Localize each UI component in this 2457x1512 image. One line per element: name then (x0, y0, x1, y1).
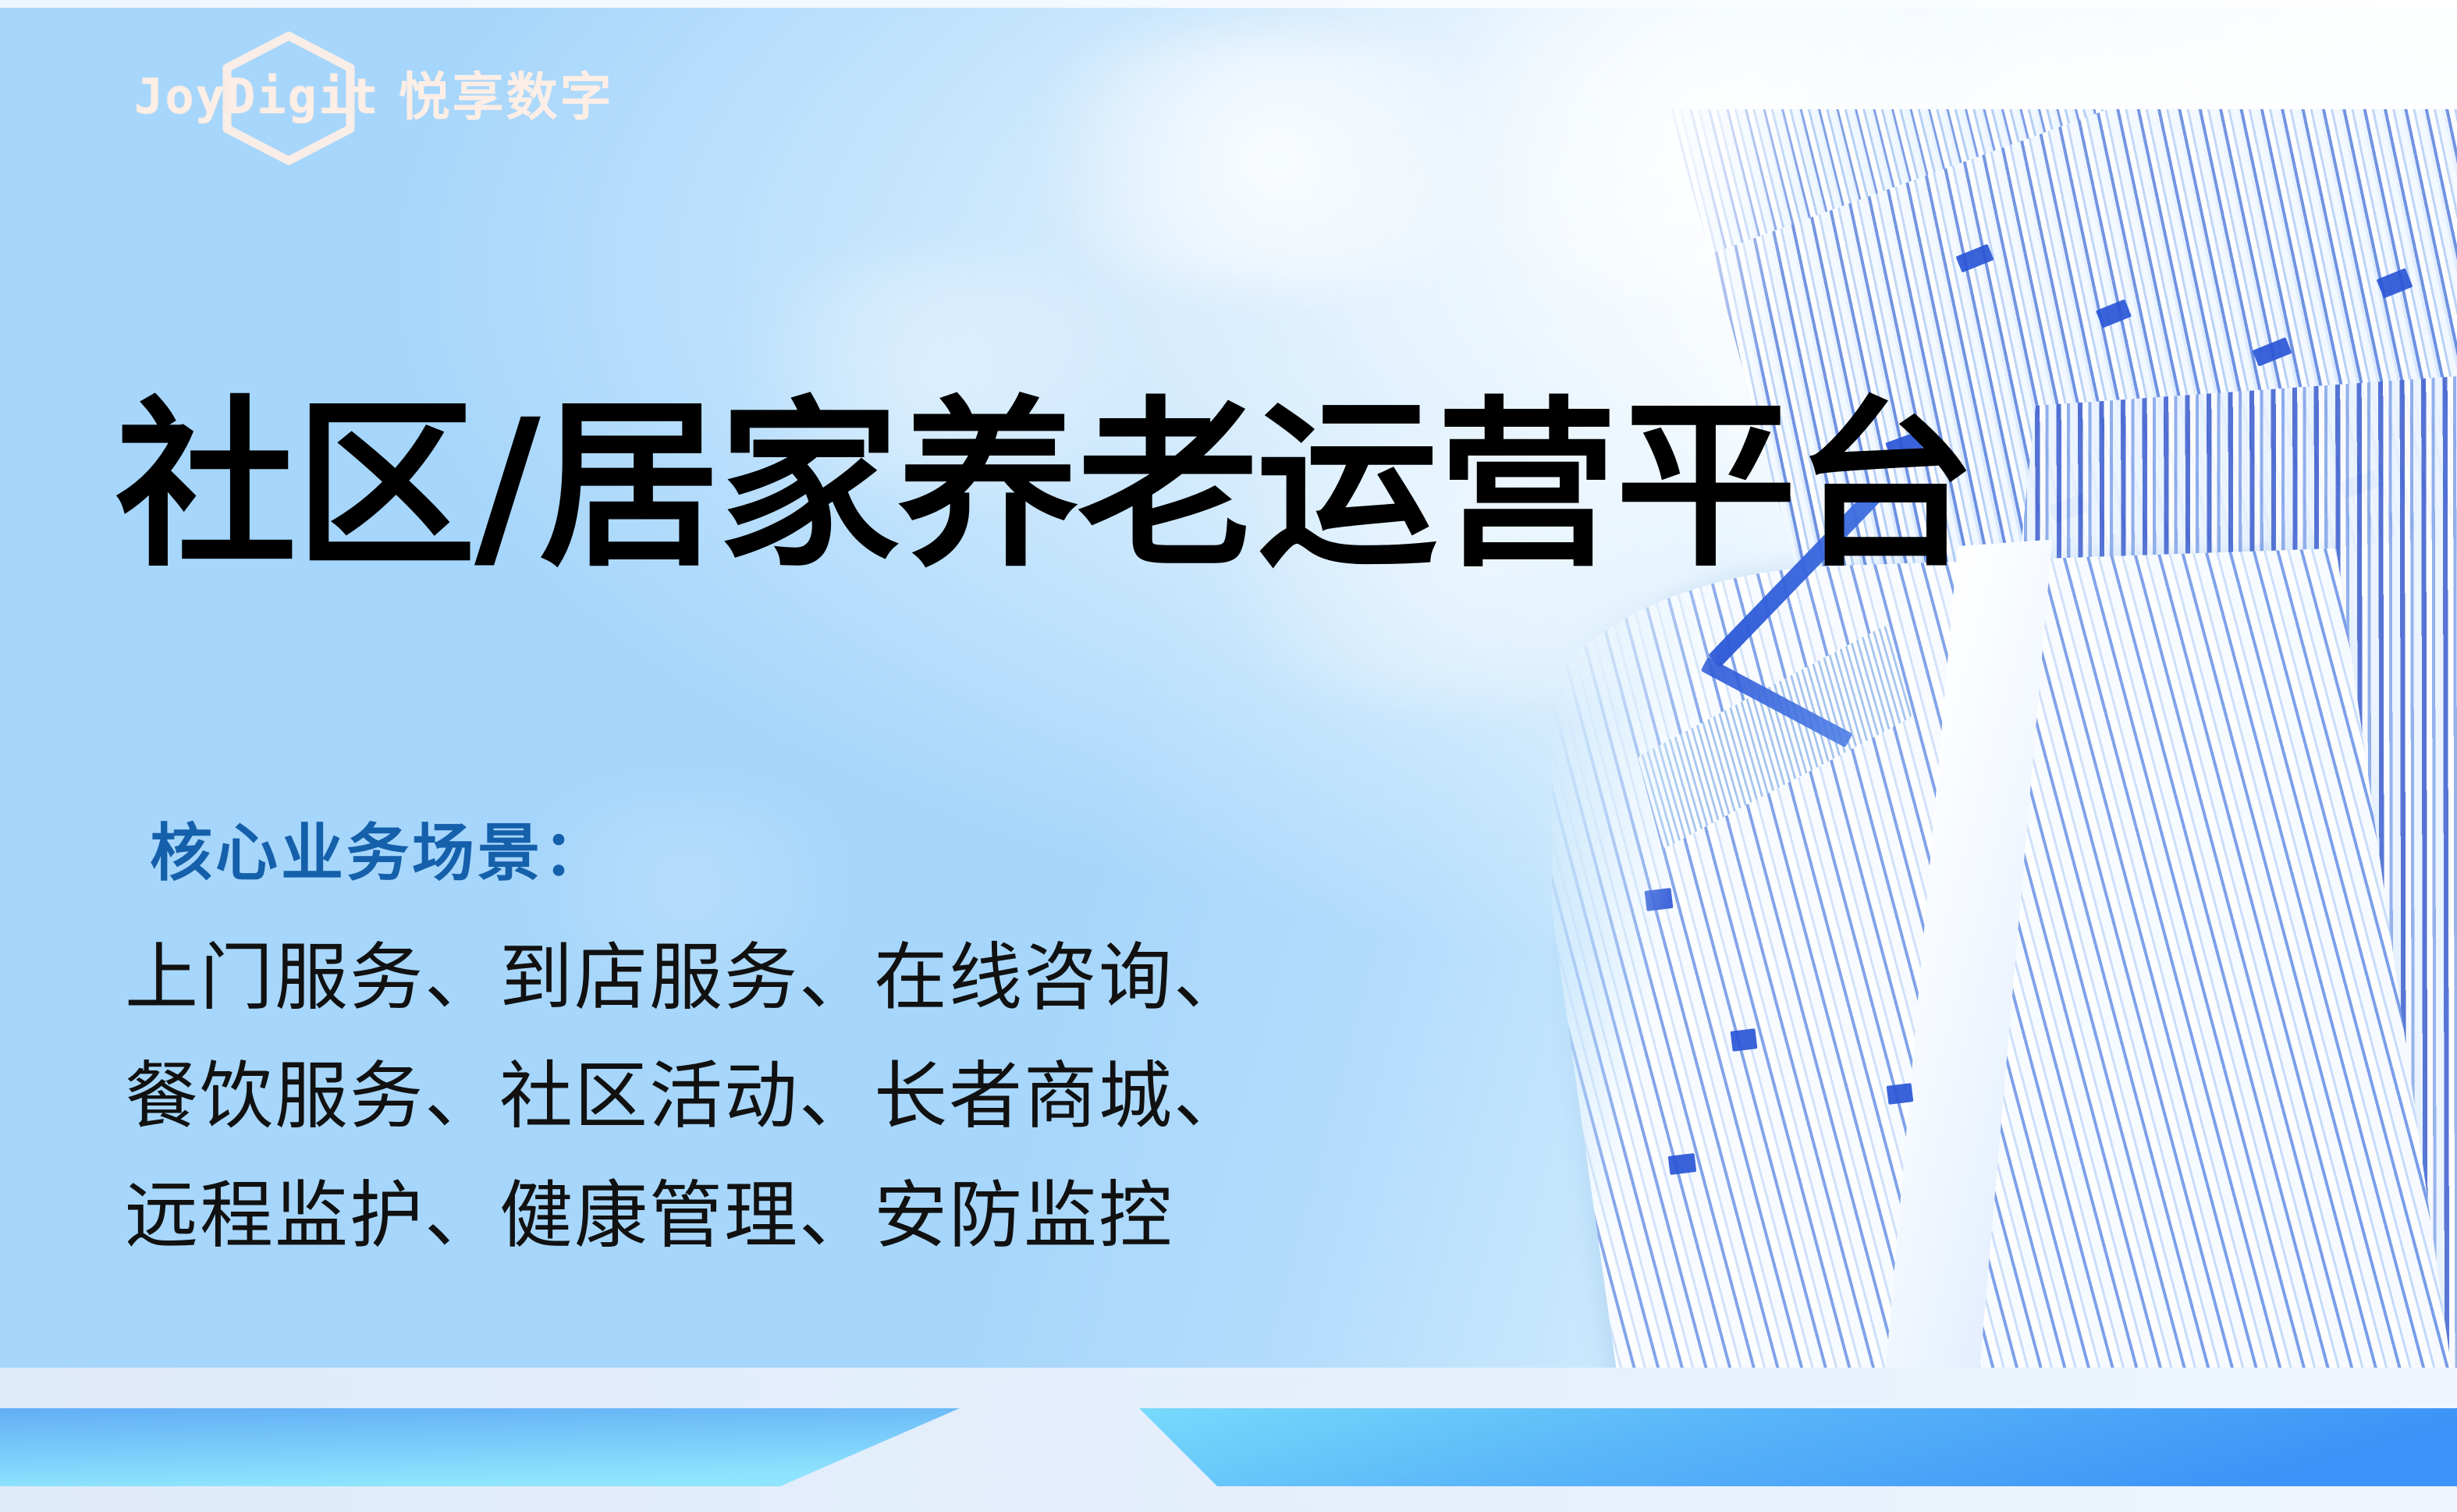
section-heading: 核心业务场景： (150, 822, 609, 885)
diagonal-blue-ribbon-band (0, 1368, 2457, 1512)
brand-wordmark-en: JoyDigit (134, 73, 380, 121)
footer-band (0, 1368, 2457, 1512)
scenario-line: 餐饮服务、社区活动、长者商城、 (125, 1038, 1248, 1156)
scenario-list: 上门服务、到店服务、在线咨询、 餐饮服务、社区活动、长者商城、 远程监护、健康管… (125, 919, 1248, 1276)
sky-overlay (0, 0, 2457, 1512)
slide-canvas: JoyDigit 悦享数字 社区/居家养老运营平台 核心业务场景： 上门服务、到… (0, 0, 2457, 1512)
top-edge-strip (0, 0, 2457, 8)
brand-logo[interactable]: JoyDigit 悦享数字 (134, 61, 614, 133)
scenario-line: 远程监护、健康管理、安防监控 (125, 1157, 1248, 1276)
page-title: 社区/居家养老运营平台 (115, 396, 1975, 577)
scenario-line: 上门服务、到店服务、在线咨询、 (125, 919, 1248, 1038)
brand-wordmark-cn: 悦享数字 (399, 71, 614, 122)
